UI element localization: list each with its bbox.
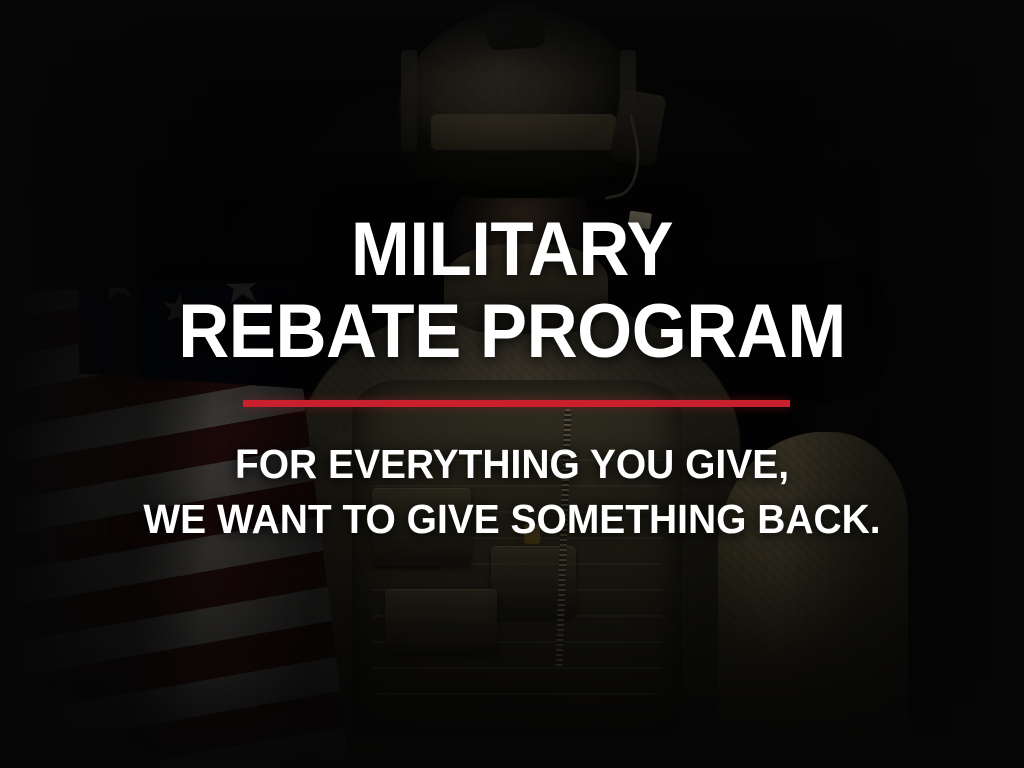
neck-gaiter bbox=[444, 244, 608, 334]
military-rebate-banner: MILITARY REBATE PROGRAM FOR EVERYTHING Y… bbox=[0, 0, 1024, 768]
vest-pouch bbox=[372, 488, 471, 567]
marpat-camo-pattern bbox=[718, 432, 908, 768]
vest-brass-clip bbox=[524, 524, 540, 544]
tactical-plate-carrier-vest bbox=[352, 380, 682, 740]
american-flag bbox=[0, 282, 351, 768]
helmet-accessory-rail-left bbox=[401, 50, 417, 153]
combat-helmet bbox=[396, 8, 646, 198]
flag-fold-shadows bbox=[0, 282, 351, 768]
helmet-velcro-panel bbox=[431, 114, 616, 150]
helmet-id-tag bbox=[628, 211, 652, 230]
night-vision-mount-icon bbox=[484, 0, 545, 50]
background-photo bbox=[0, 0, 1024, 768]
soldier-right-arm-camo-sleeve bbox=[718, 432, 908, 768]
vest-pouch bbox=[385, 589, 497, 654]
